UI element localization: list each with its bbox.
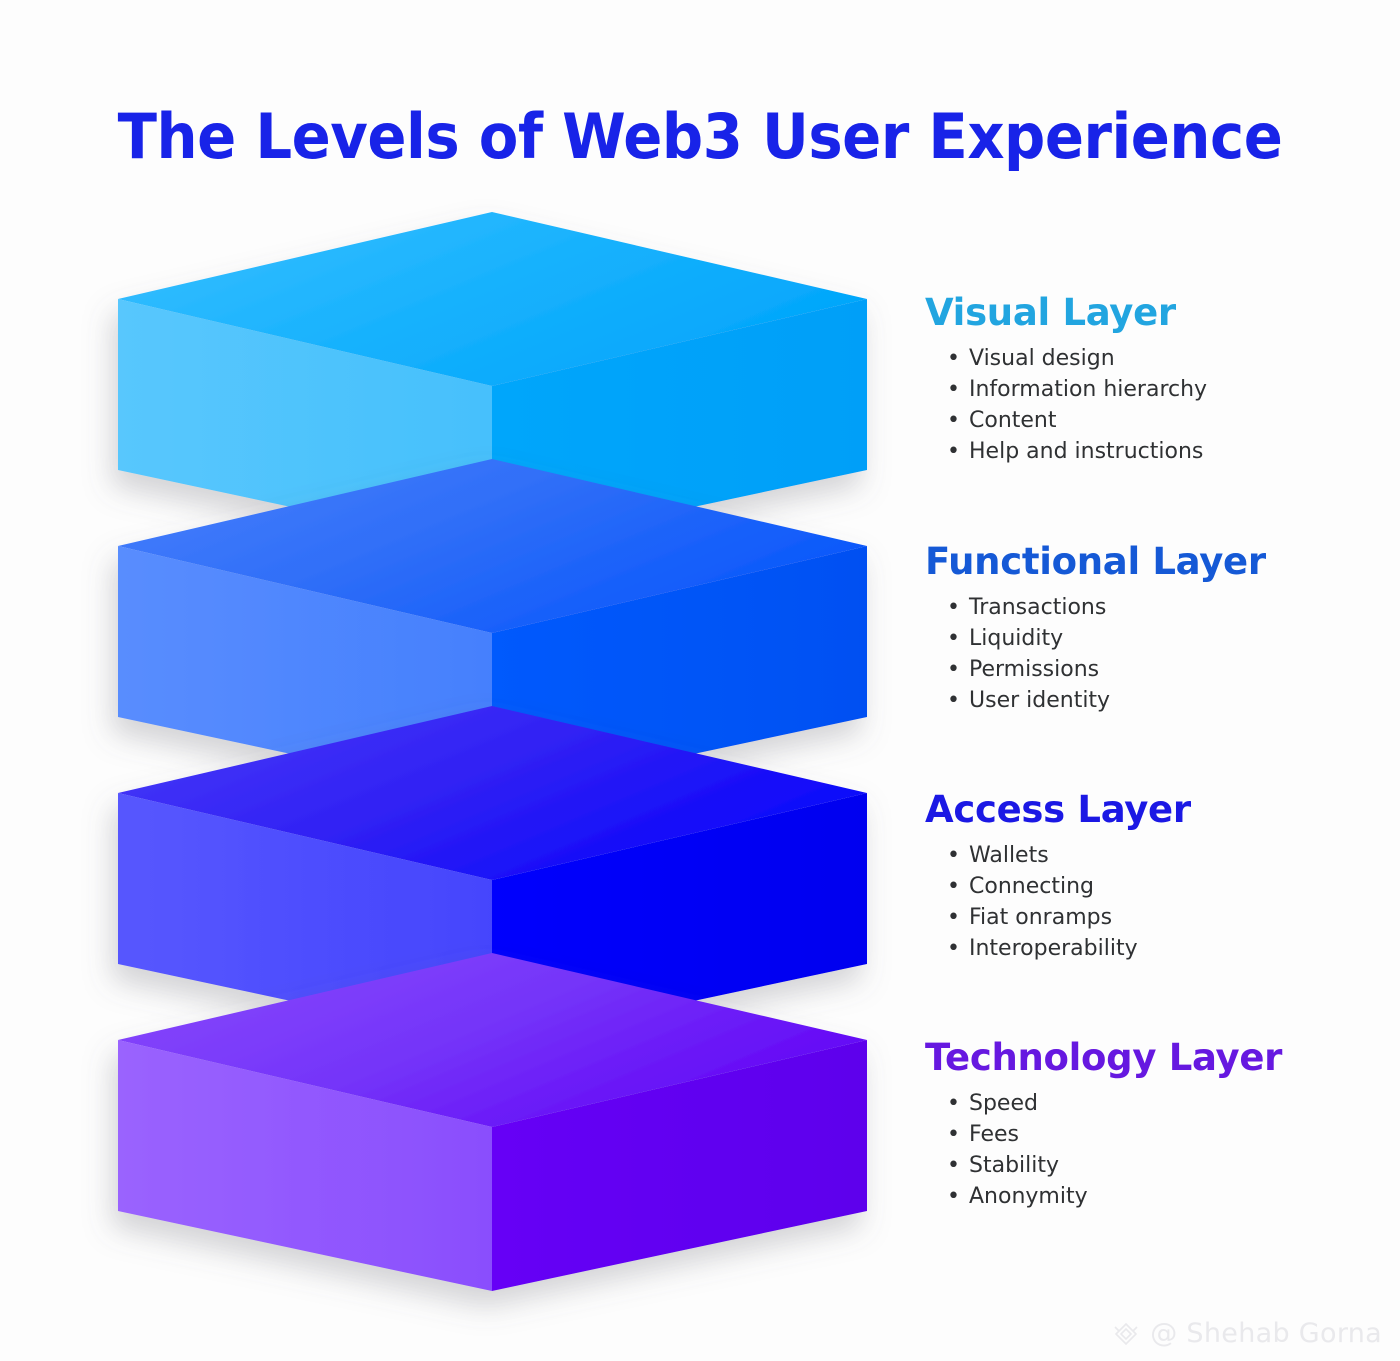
list-item-label: Help and instructions (969, 439, 1203, 464)
list-item: •Content (943, 405, 1395, 436)
layer-legend: Visual Layer •Visual design •Information… (925, 0, 1395, 1361)
bullet-icon: • (947, 343, 960, 374)
bullet-icon: • (947, 405, 960, 436)
list-item-label: Fees (969, 1122, 1019, 1147)
list-item: •Speed (943, 1088, 1395, 1119)
list-item: •Transactions (943, 592, 1395, 623)
legend-block-functional-layer: Functional Layer •Transactions •Liquidit… (925, 543, 1395, 716)
list-item-label: Wallets (969, 843, 1049, 868)
list-item: •Information hierarchy (943, 374, 1395, 405)
slab-technology-layer[interactable] (118, 953, 867, 1291)
infographic-page: The Levels of Web3 User Experience (0, 0, 1400, 1361)
legend-list-functional-layer: •Transactions •Liquidity •Permissions •U… (925, 592, 1395, 716)
legend-list-technology-layer: •Speed •Fees •Stability •Anonymity (925, 1088, 1395, 1212)
bullet-icon: • (947, 840, 960, 871)
legend-title-visual-layer: Visual Layer (925, 294, 1395, 333)
list-item: •User identity (943, 685, 1395, 716)
list-item: •Visual design (943, 343, 1395, 374)
list-item: •Fiat onramps (943, 902, 1395, 933)
list-item-label: Interoperability (969, 936, 1138, 961)
list-item-label: Transactions (969, 595, 1106, 620)
legend-list-access-layer: •Wallets •Connecting •Fiat onramps •Inte… (925, 840, 1395, 964)
bullet-icon: • (947, 1119, 960, 1150)
list-item: •Anonymity (943, 1181, 1395, 1212)
list-item-label: Speed (969, 1091, 1038, 1116)
legend-block-access-layer: Access Layer •Wallets •Connecting •Fiat … (925, 791, 1395, 964)
bullet-icon: • (947, 902, 960, 933)
list-item: •Wallets (943, 840, 1395, 871)
list-item: •Help and instructions (943, 436, 1395, 467)
legend-block-visual-layer: Visual Layer •Visual design •Information… (925, 294, 1395, 467)
list-item-label: Permissions (969, 657, 1099, 682)
bullet-icon: • (947, 1150, 960, 1181)
bullet-icon: • (947, 685, 960, 716)
list-item-label: Liquidity (969, 626, 1063, 651)
bullet-icon: • (947, 623, 960, 654)
layer-stack-diagram (0, 0, 980, 1361)
list-item-label: User identity (969, 688, 1110, 713)
list-item: •Connecting (943, 871, 1395, 902)
list-item-label: Anonymity (969, 1184, 1088, 1209)
watermark: @ Shehab Gorna (1111, 1318, 1382, 1349)
legend-list-visual-layer: •Visual design •Information hierarchy •C… (925, 343, 1395, 467)
watermark-handle: @ Shehab Gorna (1150, 1318, 1382, 1349)
diamond-logo-icon (1111, 1321, 1141, 1347)
bullet-icon: • (947, 436, 960, 467)
bullet-icon: • (947, 1088, 960, 1119)
legend-block-technology-layer: Technology Layer •Speed •Fees •Stability… (925, 1039, 1395, 1212)
list-item-label: Information hierarchy (969, 377, 1207, 402)
legend-title-access-layer: Access Layer (925, 791, 1395, 830)
legend-title-technology-layer: Technology Layer (925, 1039, 1395, 1078)
list-item-label: Stability (969, 1153, 1059, 1178)
legend-title-functional-layer: Functional Layer (925, 543, 1395, 582)
list-item-label: Visual design (969, 346, 1115, 371)
list-item: •Fees (943, 1119, 1395, 1150)
bullet-icon: • (947, 374, 960, 405)
list-item: •Liquidity (943, 623, 1395, 654)
list-item-label: Content (969, 408, 1057, 433)
stack-svg (0, 0, 980, 1361)
list-item-label: Fiat onramps (969, 905, 1112, 930)
list-item: •Interoperability (943, 933, 1395, 964)
list-item: •Stability (943, 1150, 1395, 1181)
bullet-icon: • (947, 871, 960, 902)
bullet-icon: • (947, 654, 960, 685)
bullet-icon: • (947, 933, 960, 964)
bullet-icon: • (947, 592, 960, 623)
list-item: •Permissions (943, 654, 1395, 685)
bullet-icon: • (947, 1181, 960, 1212)
list-item-label: Connecting (969, 874, 1094, 899)
